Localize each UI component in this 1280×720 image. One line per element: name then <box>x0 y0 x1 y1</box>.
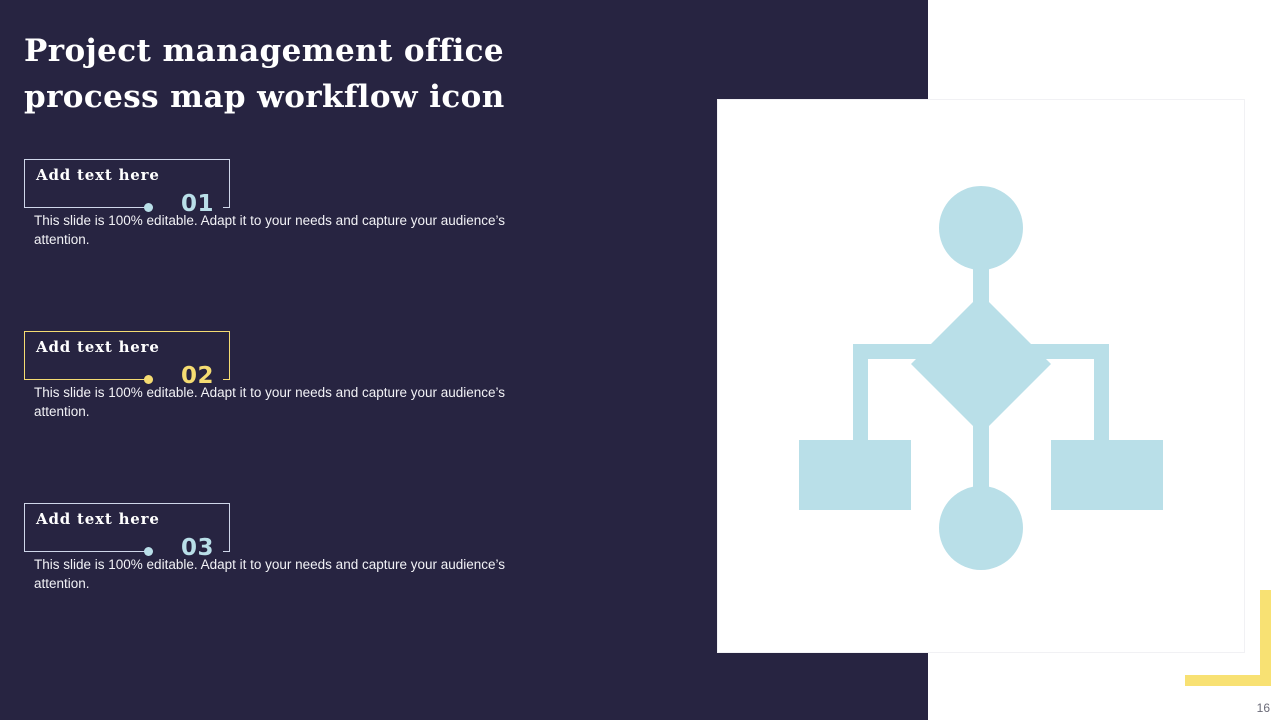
connector-rule-right-03 <box>223 551 230 552</box>
bracket-vertical-bar <box>1260 590 1271 686</box>
start-circle <box>939 186 1023 270</box>
slide-root: Project management office process map wo… <box>0 0 1280 720</box>
process-map-workflow-icon <box>771 166 1191 586</box>
connector-rule-right-01 <box>223 207 230 208</box>
image-card <box>718 100 1244 652</box>
edge-right-drop <box>1094 344 1109 448</box>
right-rectangle <box>1051 440 1163 510</box>
chip-box-03[interactable]: Add text here <box>24 503 230 539</box>
connector-rule-left-01 <box>24 207 147 208</box>
chip-label-03: Add text here <box>36 510 160 528</box>
connector-rule-right-02 <box>223 379 230 380</box>
connector-rule-left-03 <box>24 551 147 552</box>
decision-diamond <box>911 294 1051 434</box>
left-rectangle <box>799 440 911 510</box>
bracket-horizontal-bar <box>1185 675 1271 686</box>
chip-box-01[interactable]: Add text here <box>24 159 230 195</box>
end-circle <box>939 486 1023 570</box>
chip-box-02[interactable]: Add text here <box>24 331 230 367</box>
list-item[interactable]: Add text here 01 This slide is 100% edit… <box>24 159 584 221</box>
item-body-03: This slide is 100% editable. Adapt it to… <box>34 555 534 593</box>
chip-label-01: Add text here <box>36 166 160 184</box>
page-number: 16 <box>1257 701 1270 715</box>
edge-left-drop <box>853 344 868 448</box>
list-item[interactable]: Add text here 03 This slide is 100% edit… <box>24 503 584 565</box>
connector-rule-left-02 <box>24 379 147 380</box>
chip-label-02: Add text here <box>36 338 160 356</box>
corner-bracket-decoration <box>1185 590 1271 686</box>
item-body-01: This slide is 100% editable. Adapt it to… <box>34 211 534 249</box>
item-body-02: This slide is 100% editable. Adapt it to… <box>34 383 534 421</box>
list-item[interactable]: Add text here 02 This slide is 100% edit… <box>24 331 584 393</box>
